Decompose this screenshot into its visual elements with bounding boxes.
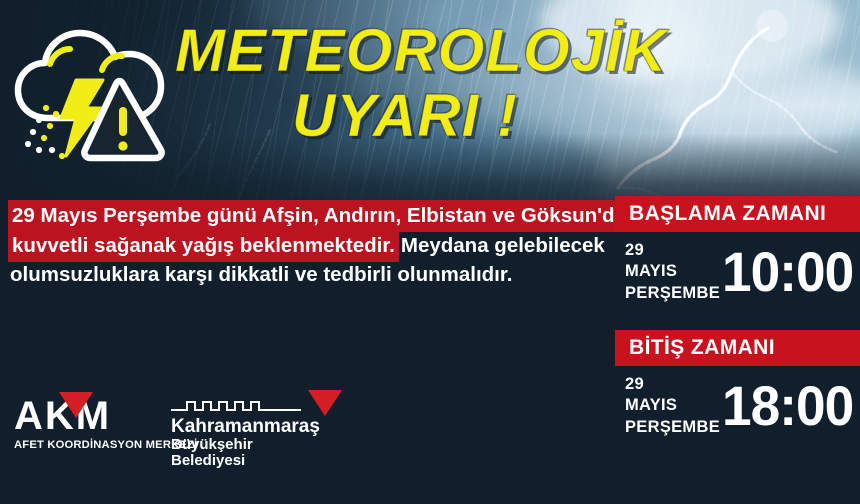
body-line-2-plain: Meydana gelebilecek bbox=[399, 230, 607, 262]
body-line-2-wrapper: kuvvetli sağanak yağış beklenmektedir.Me… bbox=[8, 236, 608, 257]
start-time-bar-label: BAŞLAMA ZAMANI bbox=[615, 196, 860, 232]
warning-body-text: 29 Mayıs Perşembe günü Afşin, Andırın, E… bbox=[8, 206, 608, 295]
end-clock: 18:00 bbox=[722, 378, 853, 434]
logo-bar: AK M AFET KOORDİNASYON MERKEZİ Kahramanm… bbox=[14, 396, 331, 470]
start-time-row: 29 MAYIS PERŞEMBE 10:00 bbox=[615, 232, 860, 304]
start-day: 29 bbox=[625, 240, 722, 261]
start-weekday: PERŞEMBE bbox=[625, 283, 722, 304]
start-date-block: 29 MAYIS PERŞEMBE bbox=[625, 240, 722, 304]
akom-subtitle: AFET KOORDİNASYON MERKEZİ bbox=[14, 439, 149, 451]
end-time-row: 29 MAYIS PERŞEMBE 18:00 bbox=[615, 366, 860, 438]
end-time-panel: BİTİŞ ZAMANI 29 MAYIS PERŞEMBE 18:00 bbox=[615, 330, 860, 438]
start-time-panel: BAŞLAMA ZAMANI 29 MAYIS PERŞEMBE 10:00 bbox=[615, 196, 860, 304]
municipality-line-2: Büyükşehir Belediyesi bbox=[171, 437, 331, 470]
start-clock: 10:00 bbox=[722, 244, 853, 300]
municipality-logo: Kahramanmaraş Büyükşehir Belediyesi bbox=[171, 396, 331, 470]
end-weekday: PERŞEMBE bbox=[625, 417, 722, 438]
castle-battlement-icon bbox=[171, 396, 301, 412]
end-date-block: 29 MAYIS PERŞEMBE bbox=[625, 374, 722, 438]
akom-logo: AK M AFET KOORDİNASYON MERKEZİ bbox=[14, 396, 149, 451]
body-line-3: olumsuzluklara karşı dikkatli ve tedbirl… bbox=[8, 259, 514, 291]
akom-wordmark: AK M bbox=[14, 396, 149, 436]
start-month: MAYIS bbox=[625, 261, 722, 282]
body-line-1: 29 Mayıs Perşembe günü Afşin, Andırın, E… bbox=[8, 200, 630, 232]
storm-cloud-warning-icon bbox=[6, 22, 171, 172]
red-ribbon-triangle-icon bbox=[308, 390, 342, 416]
end-time-bar-label: BİTİŞ ZAMANI bbox=[615, 330, 860, 366]
body-line-3-wrapper: olumsuzluklara karşı dikkatli ve tedbirl… bbox=[8, 265, 608, 286]
red-ribbon-triangle-icon bbox=[59, 392, 93, 418]
end-day: 29 bbox=[625, 374, 722, 395]
end-month: MAYIS bbox=[625, 395, 722, 416]
municipality-line-1: Kahramanmaraş bbox=[171, 417, 331, 437]
body-line-2-highlight: kuvvetli sağanak yağış beklenmektedir. bbox=[8, 230, 399, 262]
meteorological-warning-poster: METEOROLOJİK UYARI ! 29 Mayıs Perşembe g… bbox=[0, 0, 860, 504]
body-line-1-wrapper: 29 Mayıs Perşembe günü Afşin, Andırın, E… bbox=[8, 206, 608, 227]
